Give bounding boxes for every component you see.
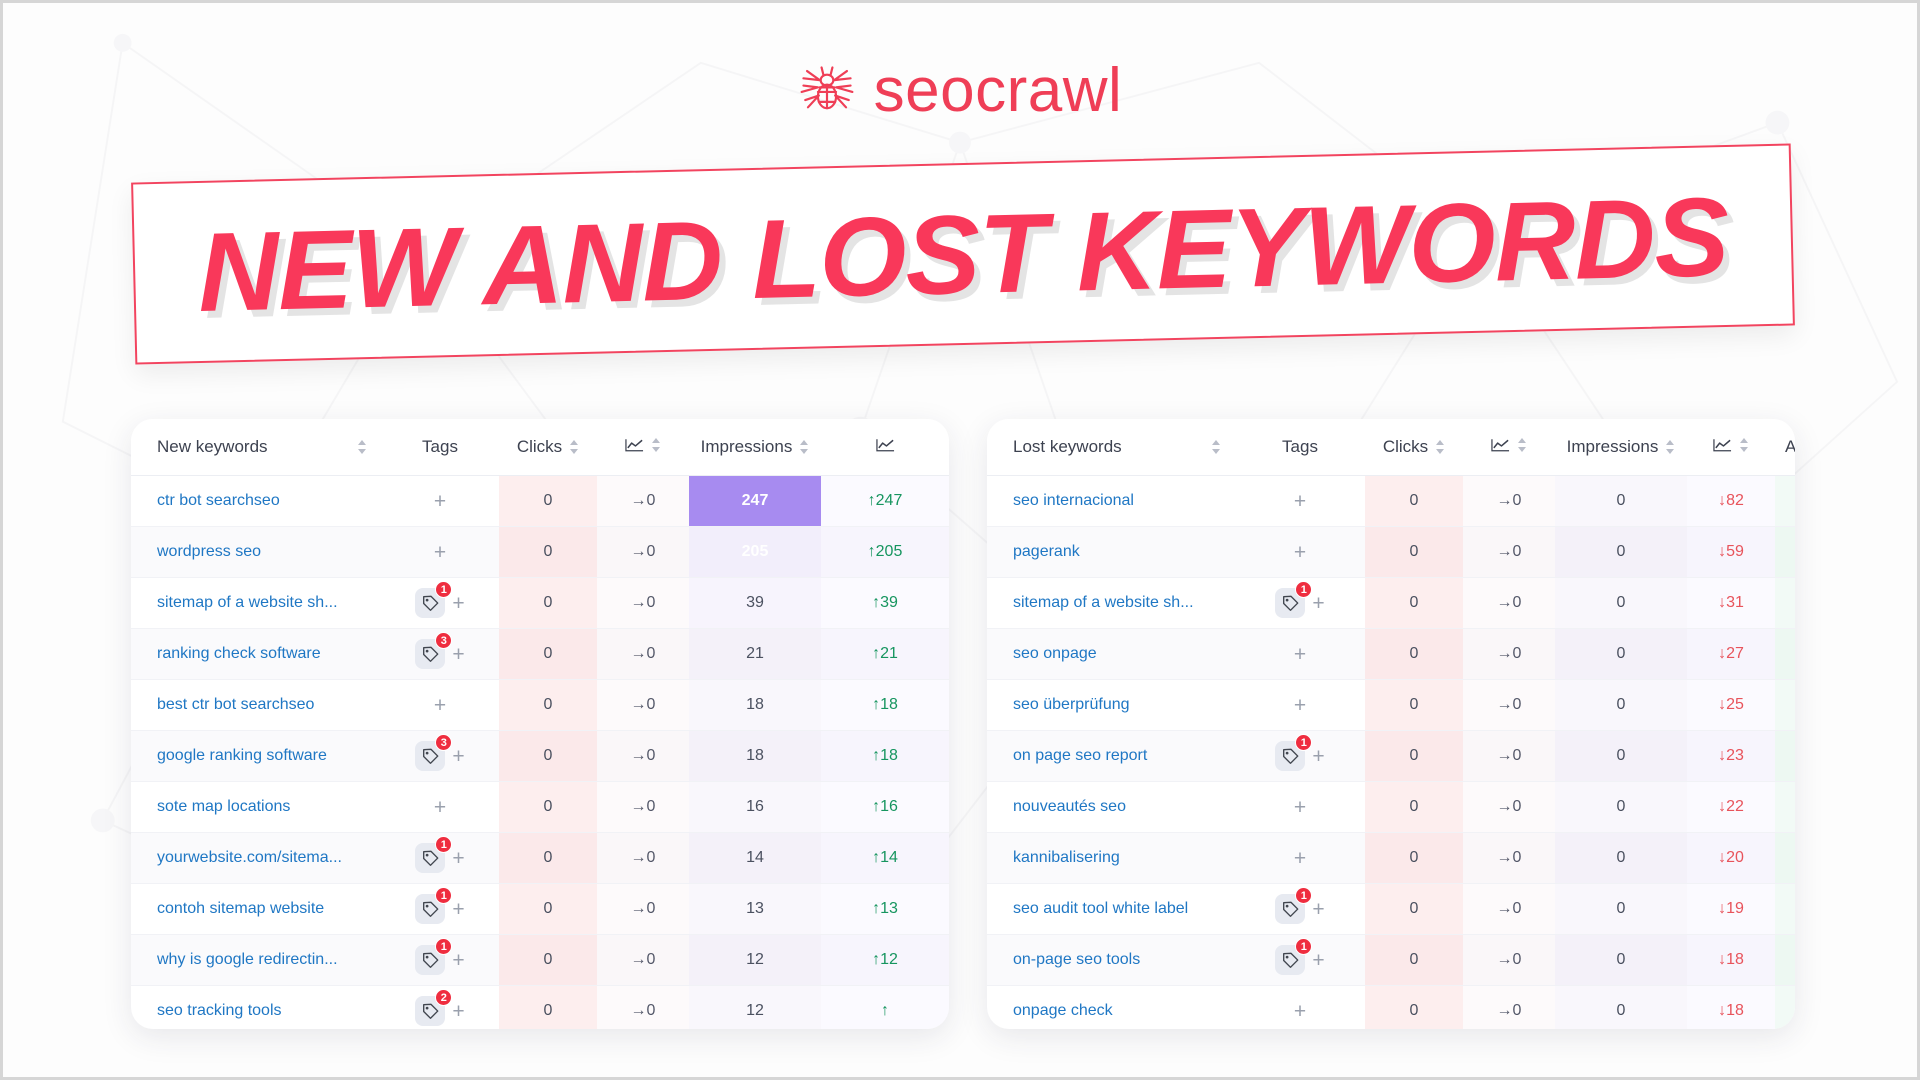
tags-cell[interactable]: 1+ <box>1235 731 1365 782</box>
add-tag-button[interactable]: + <box>1294 695 1306 716</box>
tag-chip[interactable]: 1 <box>415 894 445 924</box>
clicks-delta-value: →0 <box>631 492 656 509</box>
tags-cell[interactable]: + <box>1235 986 1365 1030</box>
clicks-value: 0 <box>499 986 597 1030</box>
add-tag-button[interactable]: + <box>1312 746 1324 767</box>
column-header-average-position[interactable]: Av <box>1775 419 1795 476</box>
clicks-delta-value: →0 <box>1497 849 1522 866</box>
table-row[interactable]: kannibalisering+0→00↓20 <box>987 833 1795 884</box>
tags-cell[interactable]: 1+ <box>1235 884 1365 935</box>
impressions-value: 0 <box>1555 731 1687 782</box>
clicks-delta-value: →0 <box>1497 951 1522 968</box>
impressions-delta: ↓31 <box>1687 578 1775 629</box>
tag-chip[interactable]: 1 <box>1275 945 1305 975</box>
add-tag-button[interactable]: + <box>434 491 446 512</box>
keyword-link[interactable]: seo audit tool white label <box>987 884 1235 935</box>
impressions-delta: ↓82 <box>1687 476 1775 527</box>
impressions-delta-value: ↑21 <box>872 645 898 662</box>
keyword-link[interactable]: sote map locations <box>131 782 381 833</box>
clicks-value: 0 <box>1365 680 1463 731</box>
tags-cell[interactable]: + <box>381 782 499 833</box>
table-row[interactable]: pagerank+0→00↓59 <box>987 527 1795 578</box>
impressions-delta-value: ↓23 <box>1718 747 1744 764</box>
tags-cell[interactable]: 1+ <box>381 884 499 935</box>
clicks-delta: →0 <box>597 629 689 680</box>
chart-line-icon <box>876 438 895 452</box>
clicks-delta-value: →0 <box>1497 594 1522 611</box>
keyword-link[interactable]: kannibalisering <box>987 833 1235 884</box>
keyword-link[interactable]: wordpress seo <box>131 527 381 578</box>
tags-cell[interactable]: 3+ <box>381 731 499 782</box>
tag-chip[interactable]: 1 <box>1275 741 1305 771</box>
clicks-value: 0 <box>499 680 597 731</box>
clicks-value: 0 <box>499 935 597 986</box>
impressions-value: 247 <box>689 476 821 527</box>
impressions-delta-value: ↑18 <box>872 747 898 764</box>
column-header-impressions-trend[interactable] <box>821 419 949 476</box>
clicks-value: 0 <box>499 731 597 782</box>
keyword-link[interactable]: seo überprüfung <box>987 680 1235 731</box>
impressions-delta: ↑18 <box>821 680 949 731</box>
table-row[interactable]: on-page seo tools1+0→00↓18 <box>987 935 1795 986</box>
page-frame: seocrawl NEW AND LOST KEYWORDS New keywo… <box>0 0 1920 1080</box>
tags-cell[interactable]: 1+ <box>1235 578 1365 629</box>
impressions-value: 39 <box>689 578 821 629</box>
tags-cell[interactable]: + <box>1235 527 1365 578</box>
table-row[interactable]: best ctr bot searchseo+0→018↑18 <box>131 680 949 731</box>
average-position-value <box>1775 986 1795 1030</box>
tags-cell[interactable]: + <box>381 476 499 527</box>
impressions-delta: ↓27 <box>1687 629 1775 680</box>
impressions-delta-value: ↑247 <box>868 492 903 509</box>
sort-icon[interactable] <box>1740 437 1749 453</box>
page-title: NEW AND LOST KEYWORDS <box>197 171 1730 336</box>
tags-cell[interactable]: 3+ <box>381 629 499 680</box>
column-header-lost-keywords[interactable]: Lost keywords <box>987 419 1235 476</box>
column-label: Clicks <box>1383 437 1428 457</box>
clicks-value: 0 <box>1365 986 1463 1030</box>
tag-chip[interactable]: 3 <box>415 741 445 771</box>
column-header-clicks[interactable]: Clicks <box>1365 419 1463 476</box>
clicks-delta-value: →0 <box>1497 747 1522 764</box>
impressions-delta: ↑205 <box>821 527 949 578</box>
clicks-delta: →0 <box>597 986 689 1030</box>
impressions-delta: ↓18 <box>1687 935 1775 986</box>
clicks-delta-value: →0 <box>631 747 656 764</box>
add-tag-button[interactable]: + <box>1312 950 1324 971</box>
sort-icon[interactable] <box>800 439 809 455</box>
average-position-value <box>1775 731 1795 782</box>
impressions-delta-value: ↓59 <box>1718 543 1744 560</box>
tag-chip[interactable]: 1 <box>415 843 445 873</box>
brand-logo: seocrawl <box>3 55 1917 127</box>
impressions-delta-value: ↓27 <box>1718 645 1744 662</box>
table-row[interactable]: seo überprüfung+0→00↓25 <box>987 680 1795 731</box>
impressions-delta: ↓20 <box>1687 833 1775 884</box>
tag-count-badge: 3 <box>435 734 452 751</box>
tags-cell[interactable]: + <box>381 527 499 578</box>
chart-line-icon <box>1713 438 1732 452</box>
table-row[interactable]: nouveautés seo+0→00↓22 <box>987 782 1795 833</box>
impressions-value: 0 <box>1555 935 1687 986</box>
impressions-delta-value: ↑16 <box>872 798 898 815</box>
clicks-value: 0 <box>499 476 597 527</box>
tag-icon <box>1282 901 1299 918</box>
impressions-delta: ↓23 <box>1687 731 1775 782</box>
column-label: Tags <box>1282 437 1318 457</box>
tag-chip[interactable]: 1 <box>1275 588 1305 618</box>
impressions-delta: ↑39 <box>821 578 949 629</box>
average-position-value <box>1775 578 1795 629</box>
clicks-delta: →0 <box>1463 731 1555 782</box>
add-tag-button[interactable]: + <box>452 1001 464 1022</box>
average-position-value <box>1775 629 1795 680</box>
clicks-delta: →0 <box>1463 782 1555 833</box>
table-row[interactable]: ranking check software3+0→021↑21 <box>131 629 949 680</box>
impressions-value: 0 <box>1555 782 1687 833</box>
table-row[interactable]: ctr bot searchseo+0→0247↑247 <box>131 476 949 527</box>
tags-cell[interactable]: 1+ <box>381 935 499 986</box>
column-header-clicks-trend[interactable] <box>597 419 689 476</box>
average-position-value <box>1775 833 1795 884</box>
column-header-clicks-trend[interactable] <box>1463 419 1555 476</box>
column-label: Impressions <box>1567 437 1659 457</box>
tags-cell[interactable]: + <box>1235 833 1365 884</box>
sort-icon[interactable] <box>358 439 367 455</box>
clicks-value: 0 <box>1365 731 1463 782</box>
impressions-value: 18 <box>689 731 821 782</box>
tag-icon <box>422 748 439 765</box>
brand-name: seocrawl <box>874 60 1123 122</box>
sort-icon[interactable] <box>1666 439 1675 455</box>
impressions-value: 12 <box>689 986 821 1030</box>
tag-chip[interactable]: 2 <box>415 996 445 1026</box>
impressions-delta-value: ↓19 <box>1718 900 1744 917</box>
add-tag-button[interactable]: + <box>434 797 446 818</box>
impressions-delta: ↓19 <box>1687 884 1775 935</box>
table-row[interactable]: sitemap of a website sh...1+0→039↑39 <box>131 578 949 629</box>
impressions-delta-value: ↓31 <box>1718 594 1744 611</box>
impressions-delta-value: ↑39 <box>872 594 898 611</box>
add-tag-button[interactable]: + <box>1312 593 1324 614</box>
impressions-delta: ↑14 <box>821 833 949 884</box>
table-row[interactable]: sitemap of a website sh...1+0→00↓31 <box>987 578 1795 629</box>
clicks-delta: →0 <box>597 578 689 629</box>
clicks-value: 0 <box>1365 476 1463 527</box>
tag-count-badge: 1 <box>1295 887 1312 904</box>
average-position-value <box>1775 527 1795 578</box>
clicks-delta: →0 <box>1463 476 1555 527</box>
impressions-value: 0 <box>1555 578 1687 629</box>
impressions-value: 0 <box>1555 629 1687 680</box>
table-row[interactable]: wordpress seo+0→0205↑205 <box>131 527 949 578</box>
clicks-delta: →0 <box>1463 629 1555 680</box>
add-tag-button[interactable]: + <box>1294 491 1306 512</box>
clicks-delta-value: →0 <box>631 696 656 713</box>
keyword-link[interactable]: seo internacional <box>987 476 1235 527</box>
impressions-delta: ↓18 <box>1687 986 1775 1030</box>
clicks-delta: →0 <box>597 731 689 782</box>
column-header-impressions[interactable]: Impressions <box>689 419 821 476</box>
lost-keywords-table: Lost keywords Tags Clicks <box>987 419 1795 1029</box>
add-tag-button[interactable]: + <box>1294 1001 1306 1022</box>
chart-line-icon <box>625 438 644 452</box>
column-header-impressions[interactable]: Impressions <box>1555 419 1687 476</box>
impressions-value: 12 <box>689 935 821 986</box>
add-tag-button[interactable]: + <box>452 746 464 767</box>
sort-icon[interactable] <box>570 439 579 455</box>
average-position-value <box>1775 884 1795 935</box>
impressions-delta: ↓22 <box>1687 782 1775 833</box>
table-row[interactable]: seo onpage+0→00↓27 <box>987 629 1795 680</box>
clicks-delta-value: →0 <box>1497 492 1522 509</box>
impressions-value: 0 <box>1555 833 1687 884</box>
clicks-delta: →0 <box>597 782 689 833</box>
clicks-delta: →0 <box>1463 578 1555 629</box>
impressions-delta-value: ↓20 <box>1718 849 1744 866</box>
tag-chip[interactable]: 1 <box>1275 894 1305 924</box>
sort-icon[interactable] <box>652 437 661 453</box>
table-row[interactable]: sote map locations+0→016↑16 <box>131 782 949 833</box>
chart-line-icon <box>1491 438 1510 452</box>
spider-icon <box>798 62 856 120</box>
tag-icon <box>1282 595 1299 612</box>
add-tag-button[interactable]: + <box>452 644 464 665</box>
keyword-link[interactable]: best ctr bot searchseo <box>131 680 381 731</box>
tag-count-badge: 1 <box>435 938 452 955</box>
add-tag-button[interactable]: + <box>1294 848 1306 869</box>
tag-icon <box>422 595 439 612</box>
sort-icon[interactable] <box>1212 439 1221 455</box>
add-tag-button[interactable]: + <box>1294 797 1306 818</box>
table-row[interactable]: on page seo report1+0→00↓23 <box>987 731 1795 782</box>
table-row[interactable]: onpage check+0→00↓18 <box>987 986 1795 1030</box>
impressions-delta-value: ↓18 <box>1718 951 1744 968</box>
keyword-link[interactable]: onpage check <box>987 986 1235 1030</box>
tag-icon <box>422 850 439 867</box>
tag-icon <box>422 646 439 663</box>
clicks-value: 0 <box>499 782 597 833</box>
column-header-tags: Tags <box>381 419 499 476</box>
column-header-impressions-trend[interactable] <box>1687 419 1775 476</box>
keyword-link[interactable]: why is google redirectin... <box>131 935 381 986</box>
impressions-delta: ↑12 <box>821 935 949 986</box>
keyword-link[interactable]: on page seo report <box>987 731 1235 782</box>
column-label: New keywords <box>157 437 268 457</box>
impressions-delta-value: ↑ <box>881 1002 889 1019</box>
clicks-delta: →0 <box>597 833 689 884</box>
add-tag-button[interactable]: + <box>1312 899 1324 920</box>
table-row[interactable]: seo audit tool white label1+0→00↓19 <box>987 884 1795 935</box>
impressions-value: 0 <box>1555 476 1687 527</box>
impressions-value: 18 <box>689 680 821 731</box>
tag-chip[interactable]: 1 <box>415 588 445 618</box>
headline-banner: NEW AND LOST KEYWORDS <box>131 143 1795 364</box>
impressions-value: 13 <box>689 884 821 935</box>
table-row[interactable]: contoh sitemap website1+0→013↑13 <box>131 884 949 935</box>
add-tag-button[interactable]: + <box>452 950 464 971</box>
impressions-delta: ↓25 <box>1687 680 1775 731</box>
keyword-link[interactable]: ctr bot searchseo <box>131 476 381 527</box>
column-label: Lost keywords <box>1013 437 1122 457</box>
tag-count-badge: 1 <box>435 581 452 598</box>
add-tag-button[interactable]: + <box>434 542 446 563</box>
tags-cell[interactable]: + <box>1235 782 1365 833</box>
keyword-link[interactable]: seo tracking tools <box>131 986 381 1030</box>
tag-chip[interactable]: 1 <box>415 945 445 975</box>
tag-count-badge: 1 <box>1295 734 1312 751</box>
new-keywords-card: New keywords Tags Clicks <box>131 419 949 1029</box>
column-label: Clicks <box>517 437 562 457</box>
clicks-value: 0 <box>1365 833 1463 884</box>
clicks-value: 0 <box>1365 782 1463 833</box>
column-label: Impressions <box>701 437 793 457</box>
impressions-delta: ↑16 <box>821 782 949 833</box>
impressions-delta-value: ↑13 <box>872 900 898 917</box>
tags-cell[interactable]: + <box>1235 476 1365 527</box>
column-label: Tags <box>422 437 458 457</box>
tag-icon <box>422 952 439 969</box>
add-tag-button[interactable]: + <box>1294 542 1306 563</box>
clicks-delta: →0 <box>1463 833 1555 884</box>
impressions-delta-value: ↑14 <box>872 849 898 866</box>
average-position-value <box>1775 935 1795 986</box>
clicks-value: 0 <box>1365 884 1463 935</box>
impressions-delta-value: ↑205 <box>868 543 903 560</box>
clicks-value: 0 <box>1365 629 1463 680</box>
clicks-delta-value: →0 <box>1497 543 1522 560</box>
average-position-value <box>1775 476 1795 527</box>
table-header-row: New keywords Tags Clicks <box>131 419 949 476</box>
clicks-delta-value: →0 <box>631 849 656 866</box>
clicks-value: 0 <box>499 527 597 578</box>
tags-cell[interactable]: 1+ <box>381 578 499 629</box>
impressions-value: 21 <box>689 629 821 680</box>
tag-icon <box>1282 748 1299 765</box>
tags-cell[interactable]: 1+ <box>381 833 499 884</box>
keyword-link[interactable]: yourwebsite.com/sitema... <box>131 833 381 884</box>
clicks-delta-value: →0 <box>631 594 656 611</box>
impressions-delta: ↑21 <box>821 629 949 680</box>
column-header-tags: Tags <box>1235 419 1365 476</box>
keyword-link[interactable]: seo onpage <box>987 629 1235 680</box>
clicks-delta-value: →0 <box>1497 696 1522 713</box>
clicks-delta-value: →0 <box>1497 900 1522 917</box>
clicks-value: 0 <box>499 629 597 680</box>
sort-icon[interactable] <box>1436 439 1445 455</box>
clicks-delta: →0 <box>597 935 689 986</box>
clicks-delta: →0 <box>1463 680 1555 731</box>
keyword-link[interactable]: contoh sitemap website <box>131 884 381 935</box>
clicks-value: 0 <box>499 884 597 935</box>
impressions-delta-value: ↓22 <box>1718 798 1744 815</box>
keyword-link[interactable]: nouveautés seo <box>987 782 1235 833</box>
tag-icon <box>422 1003 439 1020</box>
keyword-link[interactable]: sitemap of a website sh... <box>987 578 1235 629</box>
keyword-link[interactable]: ranking check software <box>131 629 381 680</box>
new-keywords-table: New keywords Tags Clicks <box>131 419 949 1029</box>
table-row[interactable]: yourwebsite.com/sitema...1+0→014↑14 <box>131 833 949 884</box>
keyword-link[interactable]: sitemap of a website sh... <box>131 578 381 629</box>
impressions-value: 16 <box>689 782 821 833</box>
clicks-delta-value: →0 <box>631 645 656 662</box>
tag-count-badge: 2 <box>435 989 452 1006</box>
impressions-delta: ↑13 <box>821 884 949 935</box>
average-position-value <box>1775 782 1795 833</box>
clicks-delta-value: →0 <box>1497 1002 1522 1019</box>
add-tag-button[interactable]: + <box>434 695 446 716</box>
clicks-delta: →0 <box>597 476 689 527</box>
tags-cell[interactable]: + <box>381 680 499 731</box>
add-tag-button[interactable]: + <box>452 593 464 614</box>
keyword-link[interactable]: pagerank <box>987 527 1235 578</box>
impressions-value: 14 <box>689 833 821 884</box>
clicks-delta: →0 <box>597 527 689 578</box>
impressions-delta: ↑247 <box>821 476 949 527</box>
impressions-delta: ↑18 <box>821 731 949 782</box>
sort-icon[interactable] <box>1518 437 1527 453</box>
table-row[interactable]: seo tracking tools2+0→012↑ <box>131 986 949 1030</box>
table-row[interactable]: why is google redirectin...1+0→012↑12 <box>131 935 949 986</box>
clicks-delta-value: →0 <box>631 951 656 968</box>
tag-icon <box>1282 952 1299 969</box>
impressions-value: 205 <box>689 527 821 578</box>
clicks-delta: →0 <box>597 884 689 935</box>
keyword-link[interactable]: on-page seo tools <box>987 935 1235 986</box>
impressions-value: 0 <box>1555 884 1687 935</box>
lost-keywords-card: Lost keywords Tags Clicks <box>987 419 1795 1029</box>
table-row[interactable]: seo internacional+0→00↓82 <box>987 476 1795 527</box>
clicks-delta: →0 <box>1463 527 1555 578</box>
impressions-delta-value: ↓18 <box>1718 1002 1744 1019</box>
tag-count-badge: 1 <box>435 887 452 904</box>
tags-cell[interactable]: + <box>1235 680 1365 731</box>
impressions-delta-value: ↓25 <box>1718 696 1744 713</box>
clicks-value: 0 <box>499 833 597 884</box>
column-header-clicks[interactable]: Clicks <box>499 419 597 476</box>
table-row[interactable]: google ranking software3+0→018↑18 <box>131 731 949 782</box>
impressions-value: 0 <box>1555 680 1687 731</box>
keyword-link[interactable]: google ranking software <box>131 731 381 782</box>
clicks-value: 0 <box>1365 527 1463 578</box>
tags-cell[interactable]: 1+ <box>1235 935 1365 986</box>
table-header-row: Lost keywords Tags Clicks <box>987 419 1795 476</box>
column-header-new-keywords[interactable]: New keywords <box>131 419 381 476</box>
clicks-delta-value: →0 <box>1497 798 1522 815</box>
add-tag-button[interactable]: + <box>452 899 464 920</box>
add-tag-button[interactable]: + <box>1294 644 1306 665</box>
clicks-delta: →0 <box>1463 986 1555 1030</box>
tag-chip[interactable]: 3 <box>415 639 445 669</box>
tag-count-badge: 1 <box>1295 938 1312 955</box>
impressions-value: 0 <box>1555 986 1687 1030</box>
tags-cell[interactable]: 2+ <box>381 986 499 1030</box>
clicks-delta: →0 <box>597 680 689 731</box>
clicks-value: 0 <box>499 578 597 629</box>
clicks-delta: →0 <box>1463 935 1555 986</box>
impressions-value: 0 <box>1555 527 1687 578</box>
clicks-value: 0 <box>1365 578 1463 629</box>
impressions-delta: ↓59 <box>1687 527 1775 578</box>
add-tag-button[interactable]: + <box>452 848 464 869</box>
tags-cell[interactable]: + <box>1235 629 1365 680</box>
impressions-delta-value: ↓82 <box>1718 492 1744 509</box>
clicks-delta-value: →0 <box>631 900 656 917</box>
impressions-delta-value: ↑12 <box>872 951 898 968</box>
clicks-delta-value: →0 <box>631 798 656 815</box>
clicks-value: 0 <box>1365 935 1463 986</box>
impressions-delta: ↑ <box>821 986 949 1030</box>
